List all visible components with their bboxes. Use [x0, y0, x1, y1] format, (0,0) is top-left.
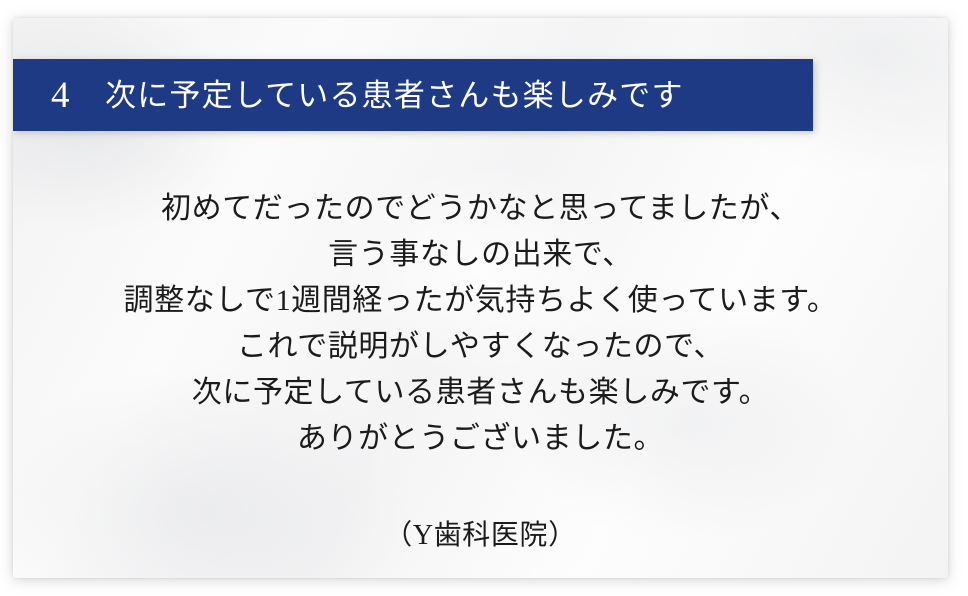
testimonial-card: 4 次に予定している患者さんも楽しみです 初めてだったのでどうかなと思ってました…: [13, 18, 948, 578]
testimonial-body-line: 次に予定している患者さんも楽しみです。: [13, 370, 948, 416]
testimonial-body-line: 調整なしで1週間経ったが気持ちよく使っています。: [13, 278, 948, 324]
testimonial-body: 初めてだったのでどうかなと思ってましたが、 言う事なしの出来で、 調整なしで1週…: [13, 186, 948, 462]
testimonial-heading-bar: 4 次に予定している患者さんも楽しみです: [13, 59, 813, 131]
testimonial-title: 次に予定している患者さんも楽しみです: [105, 80, 684, 111]
testimonial-body-line: 初めてだったのでどうかなと思ってましたが、: [13, 186, 948, 232]
testimonial-body-line: これで説明がしやすくなったので、: [13, 324, 948, 370]
testimonial-body-line: 言う事なしの出来で、: [13, 232, 948, 278]
page-root: 4 次に予定している患者さんも楽しみです 初めてだったのでどうかなと思ってました…: [0, 0, 968, 596]
testimonial-card-content: 4 次に予定している患者さんも楽しみです 初めてだったのでどうかなと思ってました…: [13, 18, 948, 578]
testimonial-number: 4: [51, 77, 70, 114]
testimonial-attribution: （Y歯科医院）: [13, 516, 948, 556]
testimonial-body-line: ありがとうございました。: [13, 416, 948, 462]
